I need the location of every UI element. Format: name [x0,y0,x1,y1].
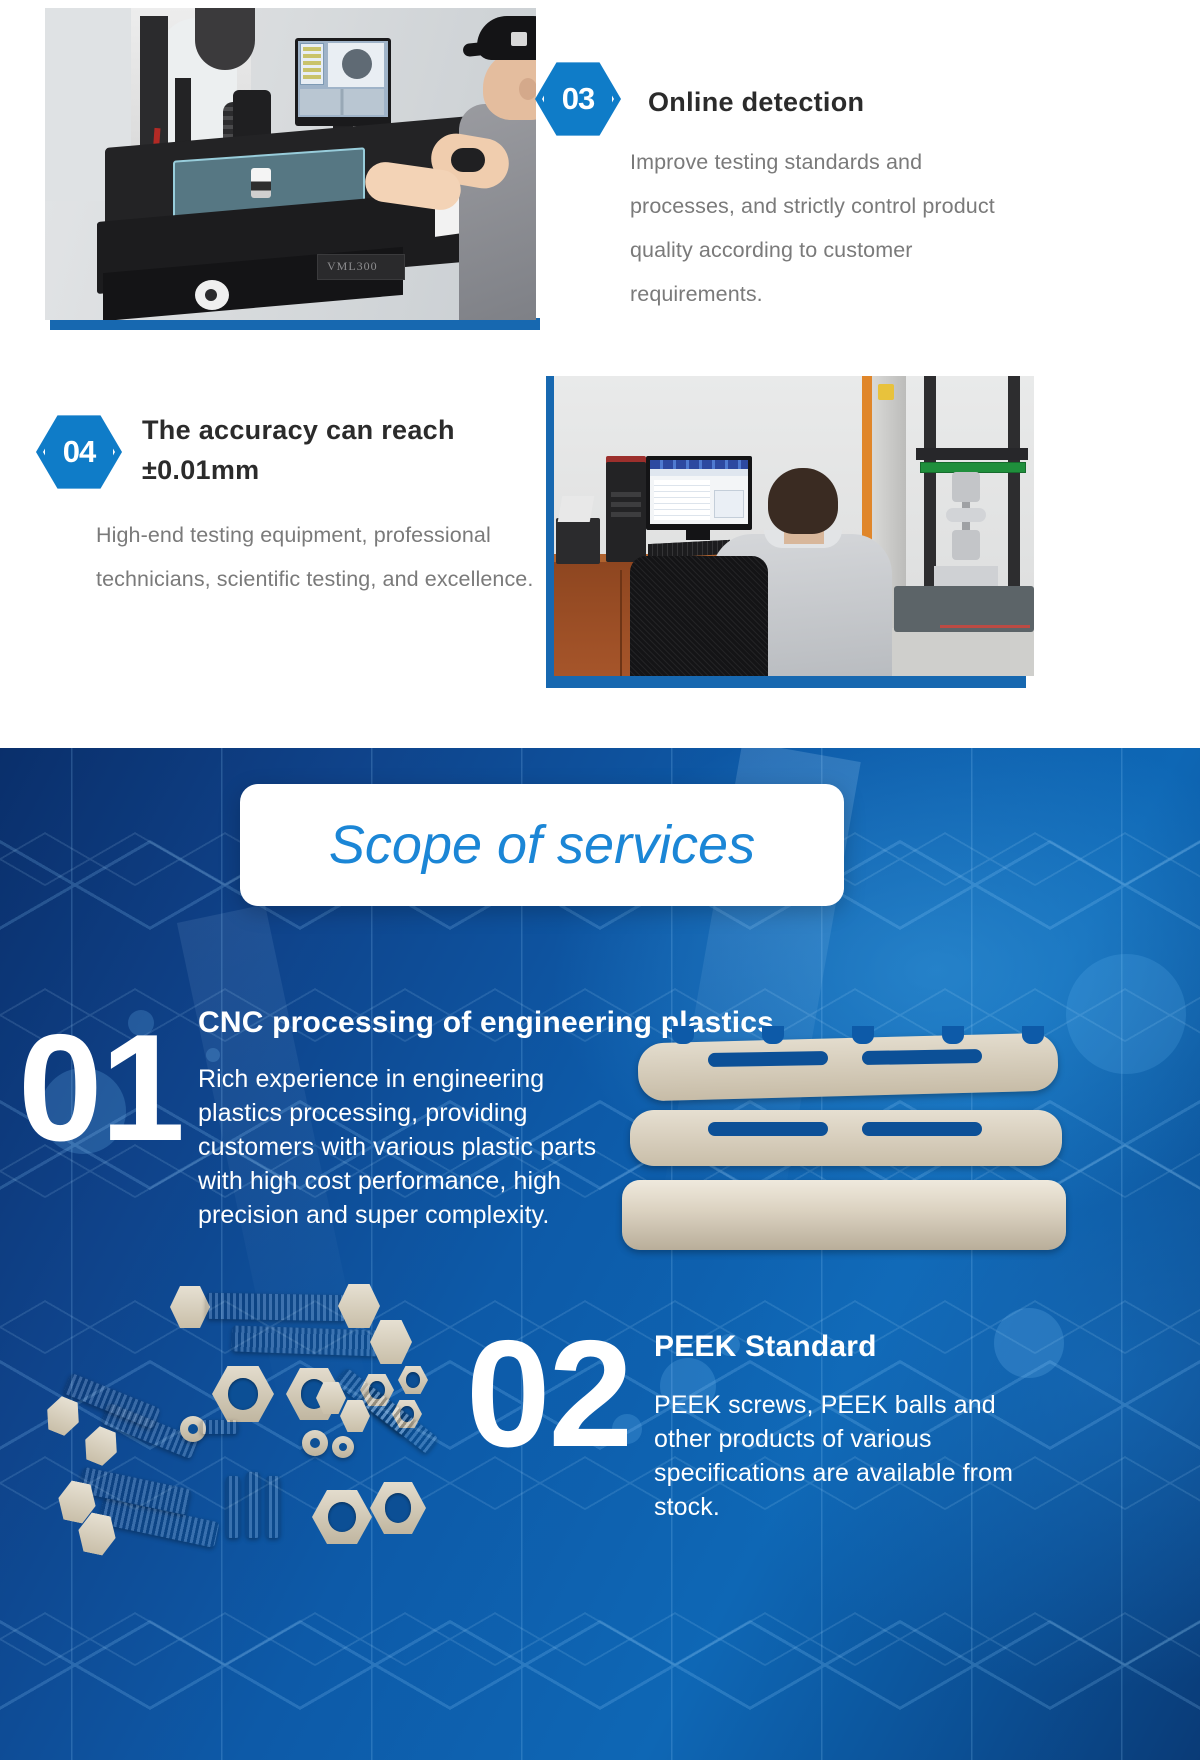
part-top-rail [637,1033,1058,1102]
small-screw [226,1476,240,1538]
service-number-01: 01 [18,1012,183,1164]
specimen-disc [946,508,986,522]
bolt-shank [232,1325,381,1356]
machine-head [195,8,255,70]
operator-ear [519,78,536,100]
computer-mouse [451,148,485,172]
hex-nut [370,1482,426,1534]
bolt-shank [206,1293,346,1321]
machine-post-right [1008,376,1020,602]
bolt-head [40,1393,85,1439]
machine-nameplate [317,254,405,280]
feature-photo-frame-04 [546,376,1056,698]
photo-tensile-testing-lab [554,376,1034,676]
hexagon-badge-04: 04 [36,413,122,491]
bolt-shank [359,1386,439,1455]
part-bottom-rail [622,1180,1066,1250]
computer-tower [606,462,646,562]
hexagon-badge-03: 03 [535,60,621,138]
feature-photo-frame-03 [28,8,536,330]
features-section: 03 Online detection Improve testing stan… [0,0,1200,835]
roller-knob [195,280,229,310]
photo-optical-measuring-machine [45,8,536,320]
frame-accent-bottom [546,676,1026,688]
small-screw [200,1420,238,1434]
floor-highlight [940,625,1030,628]
part-tooth [852,1026,874,1044]
part-tooth [942,1026,964,1044]
screen-thumbnails [300,89,384,115]
badge-number: 04 [63,434,95,470]
office-chair [630,556,768,676]
lower-grip [952,530,980,560]
screen-side-panel [300,43,324,85]
scope-title: Scope of services [329,814,755,876]
service-body-01: Rich experience in engineering plastics … [198,1062,628,1232]
part-slot [708,1122,828,1136]
photo-scene [554,376,1034,676]
screen-circle [342,49,372,79]
part-slot [708,1051,828,1067]
scope-title-card: Scope of services [240,784,844,906]
hex-nut [212,1366,274,1422]
cap-logo [511,32,527,46]
part-middle-rail [630,1110,1062,1166]
hex-nut [312,1490,372,1544]
upper-grip [952,472,980,502]
screen-data-table [654,480,710,520]
page-root: 03 Online detection Improve testing stan… [0,0,1200,1760]
machine-crosshead [916,448,1028,460]
small-screw [266,1476,280,1538]
bolt-head [170,1286,210,1328]
bolt-head [78,1423,123,1469]
service-title-02: PEEK Standard [654,1330,1074,1364]
part-slot [862,1049,982,1065]
monitor-stand [686,528,710,540]
small-screw [246,1472,260,1538]
part-tooth [672,1026,694,1044]
photo-peek-machined-part [612,1022,1072,1282]
bolt-head [338,1284,380,1328]
feature-title-04: The accuracy can reach ±0.01mm [142,410,542,490]
technician-head [768,468,838,534]
monitor-screen [298,41,388,117]
screen-preview [328,43,384,87]
sample-cup [251,168,271,198]
photo-scene [45,8,536,320]
part-tooth [762,1026,784,1044]
washer [302,1430,328,1456]
washer [332,1436,354,1458]
badge-number: 03 [562,81,594,117]
operator [453,18,536,320]
part-slot [862,1122,982,1136]
warning-sticker-icon [878,384,894,400]
part-tooth [1022,1026,1044,1044]
operator-cap [477,16,536,60]
service-number-02: 02 [466,1318,631,1470]
printer [556,518,600,564]
photo-peek-screws-and-nuts [40,1270,460,1570]
feature-title-03: Online detection [648,82,1068,122]
hex-nut [398,1366,428,1394]
bolt-head [370,1320,412,1364]
feature-body-03: Improve testing standards and processes,… [630,140,1030,316]
feature-body-04: High-end testing equipment, professional… [96,513,536,601]
service-body-02: PEEK screws, PEEK balls and other produc… [654,1388,1054,1524]
